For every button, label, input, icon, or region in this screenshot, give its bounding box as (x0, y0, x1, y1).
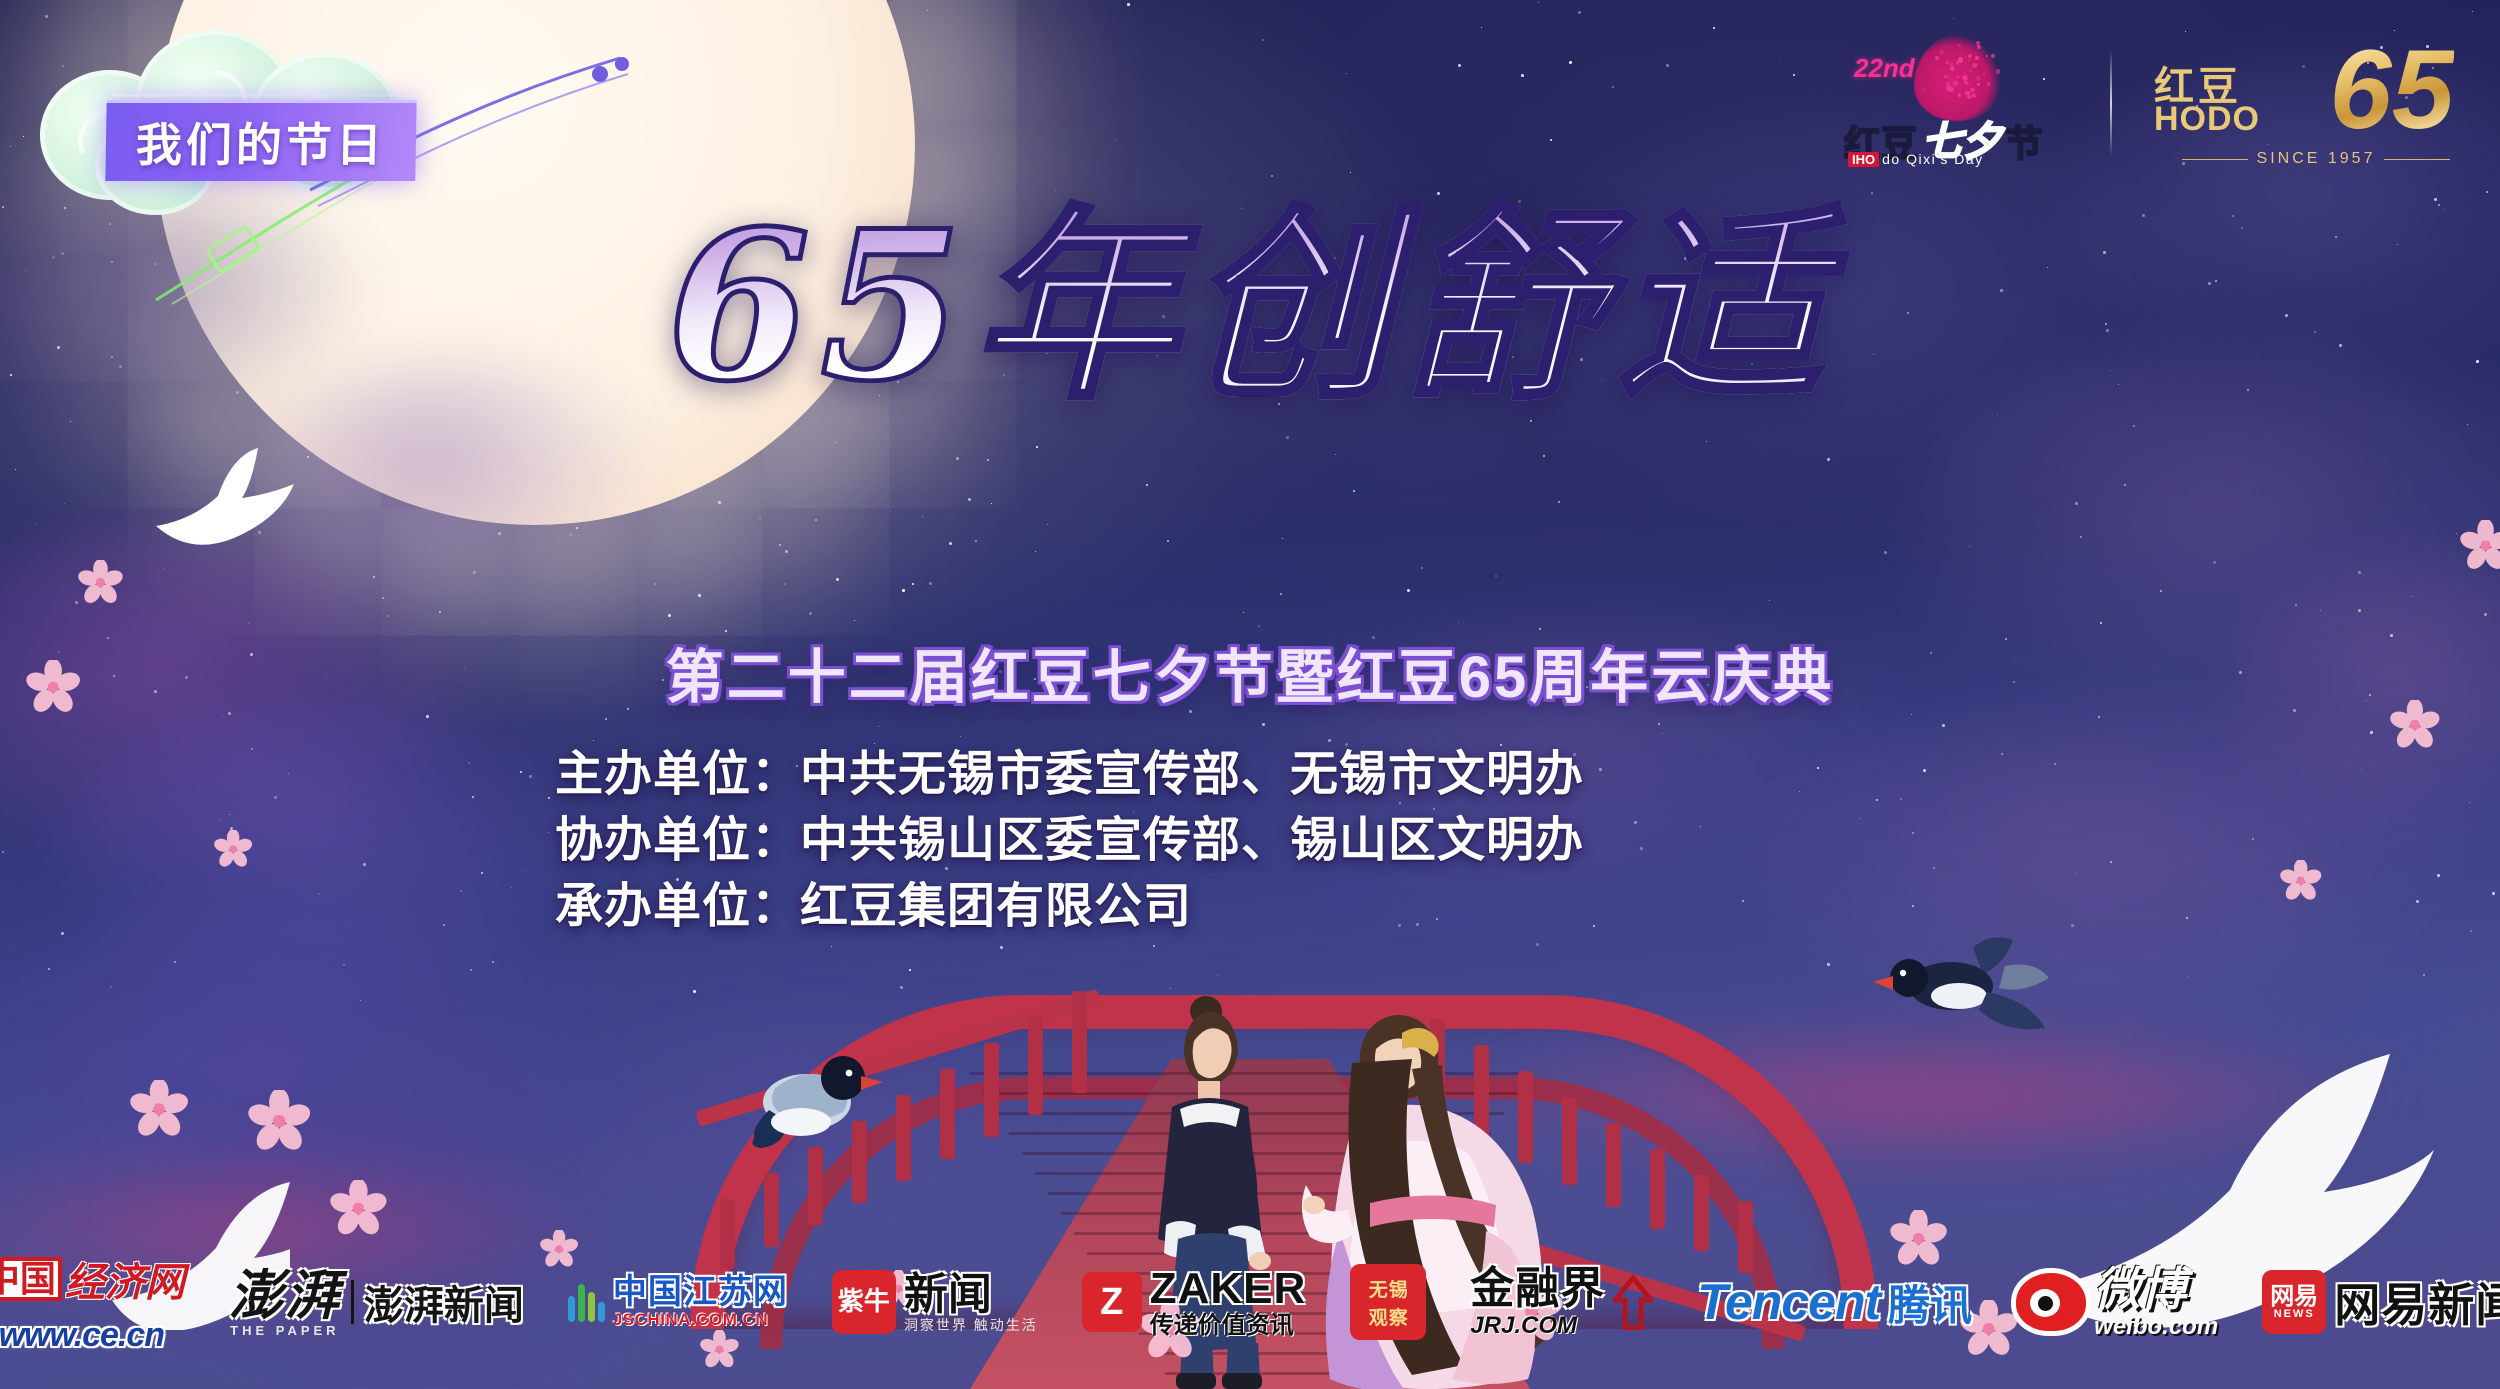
festival-badge[interactable]: 我们的节日 (105, 100, 416, 181)
weibo-name: 微博 (2094, 1265, 2186, 1313)
logo-divider (2110, 49, 2112, 157)
weibo-url: weibo.com (2094, 1314, 2218, 1339)
hodo-brand-en: HODO (2154, 100, 2260, 139)
qixi-festival-logo[interactable]: 22nd 红豆 七夕 节 IHO do Qixi's Day (1844, 33, 2074, 173)
hodo-65th-logo[interactable]: 65 红豆 HODO SINCE 1957 (2148, 28, 2458, 178)
qixi-english-label: do Qixi's Day (1882, 151, 1984, 167)
qixi-english-line: IHO do Qixi's Day (1848, 151, 1984, 167)
zaker-slogan: 传递价值资讯 (1150, 1313, 1294, 1338)
media-logo-netease[interactable]: 网易 NEWS 网易新闻 (2262, 1269, 2500, 1335)
thepaper-name: 澎湃新闻 (364, 1273, 524, 1331)
qixi-blossom-spray-icon (1928, 33, 1998, 103)
zini-name: 新闻 (904, 1272, 992, 1318)
qixi-ordinal: 22nd (1854, 53, 1915, 84)
organizer-line-host: 主办单位：中共无锡市委宣传部、无锡市文明办 (555, 742, 1584, 808)
netease-name: 网易新闻 (2334, 1269, 2500, 1335)
media-logo-wuxi-observe[interactable]: 无 锡 观 察 (1350, 1264, 1426, 1340)
hodo-since-label: SINCE 1957 (2257, 150, 2376, 168)
netease-mark: 网易 NEWS (2262, 1270, 2326, 1334)
qixi-suffix-cn: 节 (2006, 115, 2043, 167)
netease-mark-en: NEWS (2274, 1309, 2315, 1321)
ce-cn-name-a: 中国 (0, 1257, 62, 1301)
hodo-anniversary-number: 65 (2329, 34, 2454, 146)
media-logo-tencent[interactable]: Tencent 腾讯 (1697, 1272, 1972, 1333)
jschina-url: JSCHINA.COM.CN (613, 1311, 768, 1329)
media-logo-zaker[interactable]: Z ZAKER 传递价值资讯 (1082, 1266, 1307, 1337)
tencent-name-en: Tencent (1697, 1273, 1880, 1331)
zini-slogan: 洞察世界 触动生活 (904, 1318, 1038, 1333)
media-logo-thepaper[interactable]: 澎湃 THE PAPER 澎湃新闻 (229, 1267, 524, 1337)
media-logo-jrj[interactable]: 金融界 JRJ.COM (1470, 1266, 1653, 1337)
jschina-mark-icon (568, 1282, 605, 1322)
organizer-line-co: 协办单位：中共锡山区委宣传部、锡山区文明办 (555, 808, 1584, 874)
zaker-mark: Z (1082, 1272, 1142, 1332)
thepaper-english: THE PAPER (230, 1324, 339, 1338)
main-title: 65年创舒适 (0, 205, 2500, 410)
media-logo-weibo[interactable]: 微博 weibo.com (2016, 1265, 2218, 1338)
media-logo-ce-cn[interactable]: 中国 经济网 www.ce.cn (0, 1250, 185, 1355)
ce-cn-url: www.ce.cn (0, 1316, 164, 1355)
wuxi-char-2: 锡 (1389, 1275, 1408, 1302)
zaker-name: ZAKER (1150, 1266, 1307, 1312)
poster-canvas: 我们的节日 22nd 红豆 七夕 节 IHO do Qixi's Day 65 … (0, 0, 2500, 1389)
media-logo-zini-news[interactable]: 紫牛 新闻 洞察世界 触动生活 (832, 1270, 1038, 1334)
zini-mark: 紫牛 (832, 1270, 896, 1334)
tencent-name-cn: 腾讯 (1888, 1272, 1972, 1333)
jschina-name: 中国江苏网 (613, 1275, 788, 1311)
wuxi-char-3: 观 (1369, 1303, 1388, 1330)
netease-mark-cn: 网易 (2270, 1284, 2318, 1309)
media-partner-bar: 中国 经济网 www.ce.cn 澎湃 THE PAPER 澎湃新闻 中国江苏网 (0, 1247, 2500, 1357)
jrj-url: JRJ.COM (1470, 1313, 1577, 1338)
event-subtitle: 第二十二届红豆七夕节暨红豆65周年云庆典 (0, 630, 2500, 714)
wuxi-mark: 无 锡 观 察 (1350, 1264, 1426, 1340)
badge-top-rule (112, 94, 412, 97)
jrj-arrow-icon (1613, 1274, 1653, 1330)
magpie-left-icon (735, 1040, 885, 1160)
jrj-name: 金融界 (1470, 1266, 1605, 1312)
dove-left-icon (140, 440, 310, 560)
media-logo-jschina[interactable]: 中国江苏网 JSCHINA.COM.CN (568, 1275, 788, 1329)
ce-cn-name-b: 经济网 (65, 1250, 185, 1308)
festival-badge-label: 我们的节日 (135, 109, 386, 175)
wuxi-char-4: 察 (1389, 1303, 1408, 1330)
weibo-eye-icon (2016, 1273, 2086, 1331)
hodo-since-line: SINCE 1957 (2182, 150, 2450, 168)
organizer-block: 主办单位：中共无锡市委宣传部、无锡市文明办 协办单位：中共锡山区委宣传部、锡山区… (555, 742, 1584, 941)
top-right-logo-group: 22nd 红豆 七夕 节 IHO do Qixi's Day 65 红豆 HOD… (1844, 28, 2458, 178)
thepaper-mark: 澎湃 (229, 1267, 341, 1324)
wuxi-char-1: 无 (1369, 1275, 1388, 1302)
qixi-hodo-tag: IHO (1848, 152, 1879, 167)
